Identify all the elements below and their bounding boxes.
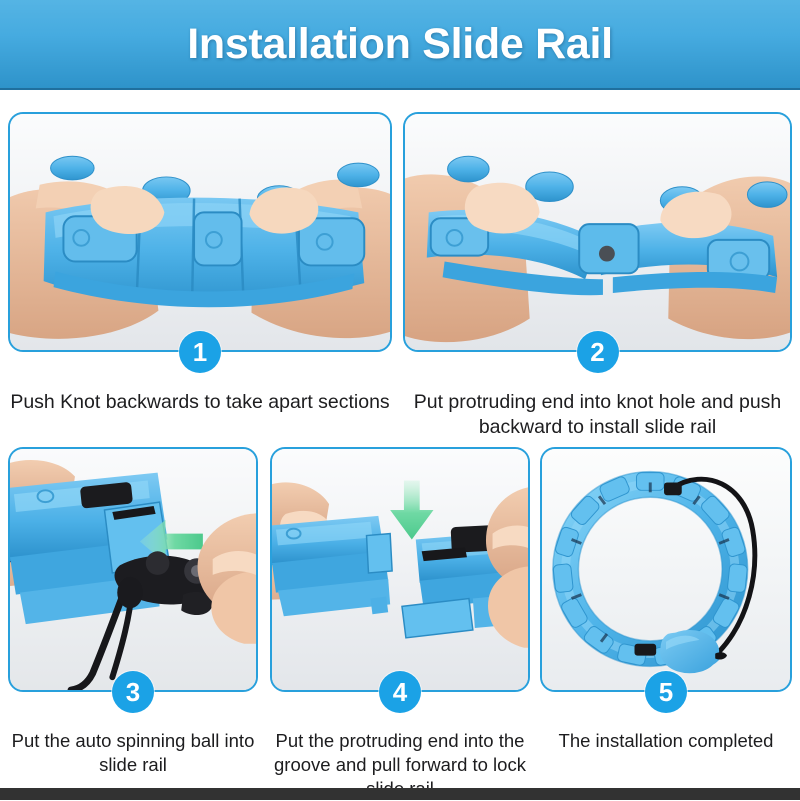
footer-bar <box>0 788 800 800</box>
step-4-photo-lock-slide-rail <box>272 449 528 690</box>
step-caption-1: Push Knot backwards to take apart sectio… <box>8 390 392 415</box>
step-caption-5: The installation completed <box>540 729 792 753</box>
step-3-photo-spinning-ball-into-rail <box>10 449 256 690</box>
step-4-photo-frame <box>270 447 530 692</box>
step-badge-5: 5 <box>645 671 687 713</box>
step-2-photo-inserting-protruding-end <box>405 114 790 350</box>
step-caption-3: Put the auto spinning ball into slide ra… <box>8 729 258 777</box>
step-badge-1: 1 <box>179 331 221 373</box>
step-badge-2: 2 <box>577 331 619 373</box>
step-5-photo-frame <box>540 447 792 692</box>
step-1-photo-hands-holding-hoop-segments <box>10 114 390 350</box>
step-1-photo-frame <box>8 112 392 352</box>
instruction-steps-grid: 1 Push Knot backwards to take apart sect… <box>0 90 800 788</box>
page-title: Installation Slide Rail <box>187 20 613 69</box>
step-badge-4: 4 <box>379 671 421 713</box>
step-3-photo-frame <box>8 447 258 692</box>
step-2-photo-frame <box>403 112 792 352</box>
step-caption-2: Put protruding end into knot hole and pu… <box>403 390 792 440</box>
step-5-photo-completed-hula-hoop <box>542 449 790 690</box>
page-header-banner: Installation Slide Rail <box>0 0 800 90</box>
step-badge-3: 3 <box>112 671 154 713</box>
